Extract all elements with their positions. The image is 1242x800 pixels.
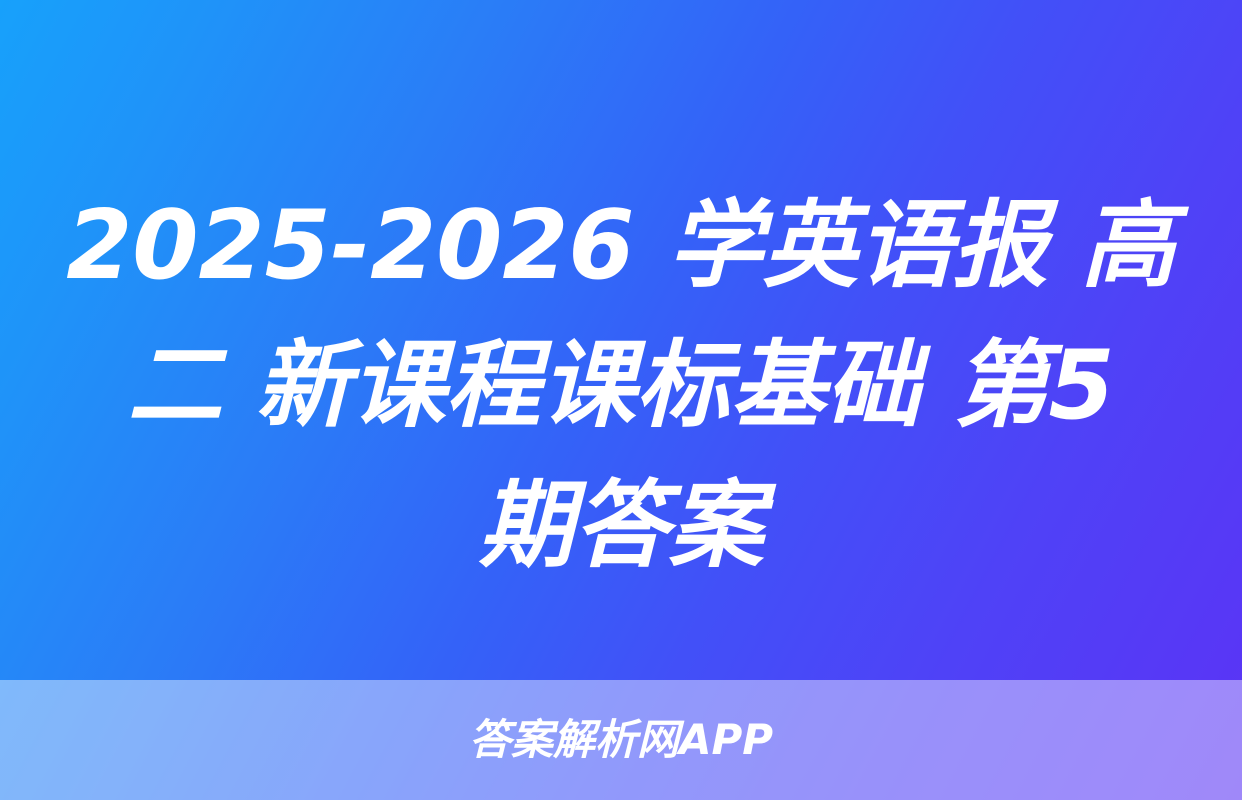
headline-line-1: 2025-2026 学英语报 高 <box>24 176 1218 316</box>
footer-brand-bar: 答案解析网APP <box>0 680 1242 800</box>
page-title: 2025-2026 学英语报 高 二 新课程课标基础 第5 期答案 <box>0 176 1242 596</box>
promo-banner: 2025-2026 学英语报 高 二 新课程课标基础 第5 期答案 答案解析网A… <box>0 0 1242 800</box>
headline-line-2: 二 新课程课标基础 第5 <box>24 316 1218 456</box>
headline-line-3: 期答案 <box>24 456 1218 596</box>
app-brand-label: 答案解析网APP <box>469 719 773 761</box>
